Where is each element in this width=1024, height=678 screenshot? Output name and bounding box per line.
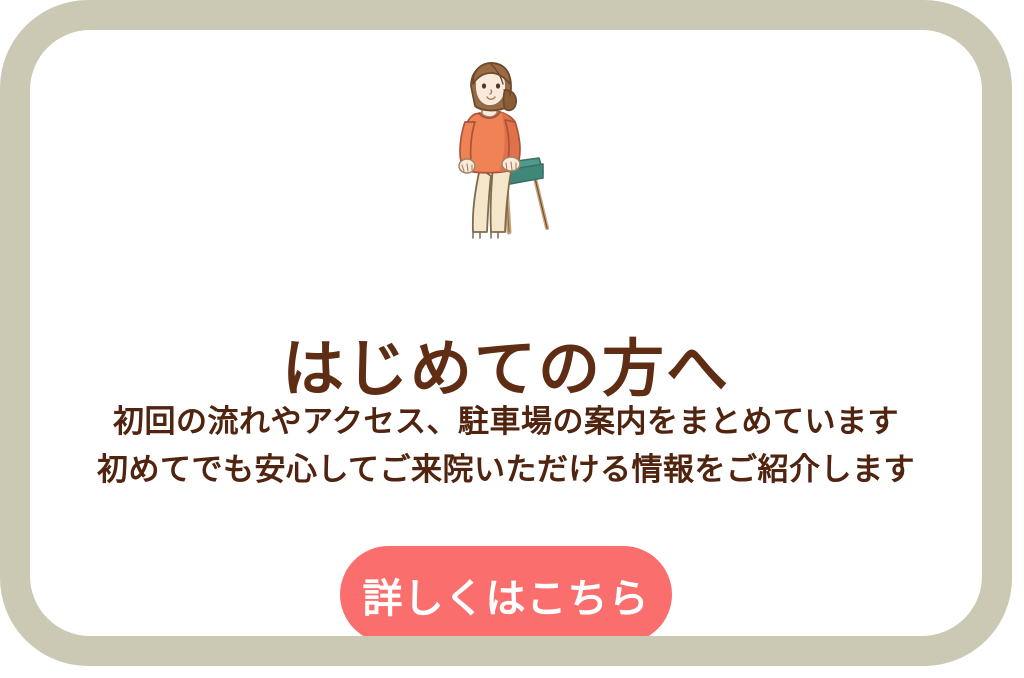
- cta-container: 詳しくはこちら: [30, 546, 982, 636]
- card-inner-surface[interactable]: はじめての方へ 初回の流れやアクセス、駐車場の案内をまとめています 初めてでも安…: [30, 30, 982, 636]
- seated-woman-icon: [431, 60, 581, 250]
- seated-woman-illustration: [30, 60, 982, 250]
- promo-card-screen: はじめての方へ 初回の流れやアクセス、駐車場の案内をまとめています 初めてでも安…: [0, 0, 1024, 678]
- learn-more-button[interactable]: 詳しくはこちら: [340, 546, 672, 636]
- card-outer-frame: はじめての方へ 初回の流れやアクセス、駐車場の案内をまとめています 初めてでも安…: [0, 0, 1012, 666]
- description-line-2: 初めてでも安心してご来院いただける情報をご紹介します: [30, 446, 982, 494]
- page-title: はじめての方へ: [30, 333, 982, 405]
- description-text: 初回の流れやアクセス、駐車場の案内をまとめています 初めてでも安心してご来院いた…: [30, 398, 982, 494]
- description-line-1: 初回の流れやアクセス、駐車場の案内をまとめています: [30, 398, 982, 446]
